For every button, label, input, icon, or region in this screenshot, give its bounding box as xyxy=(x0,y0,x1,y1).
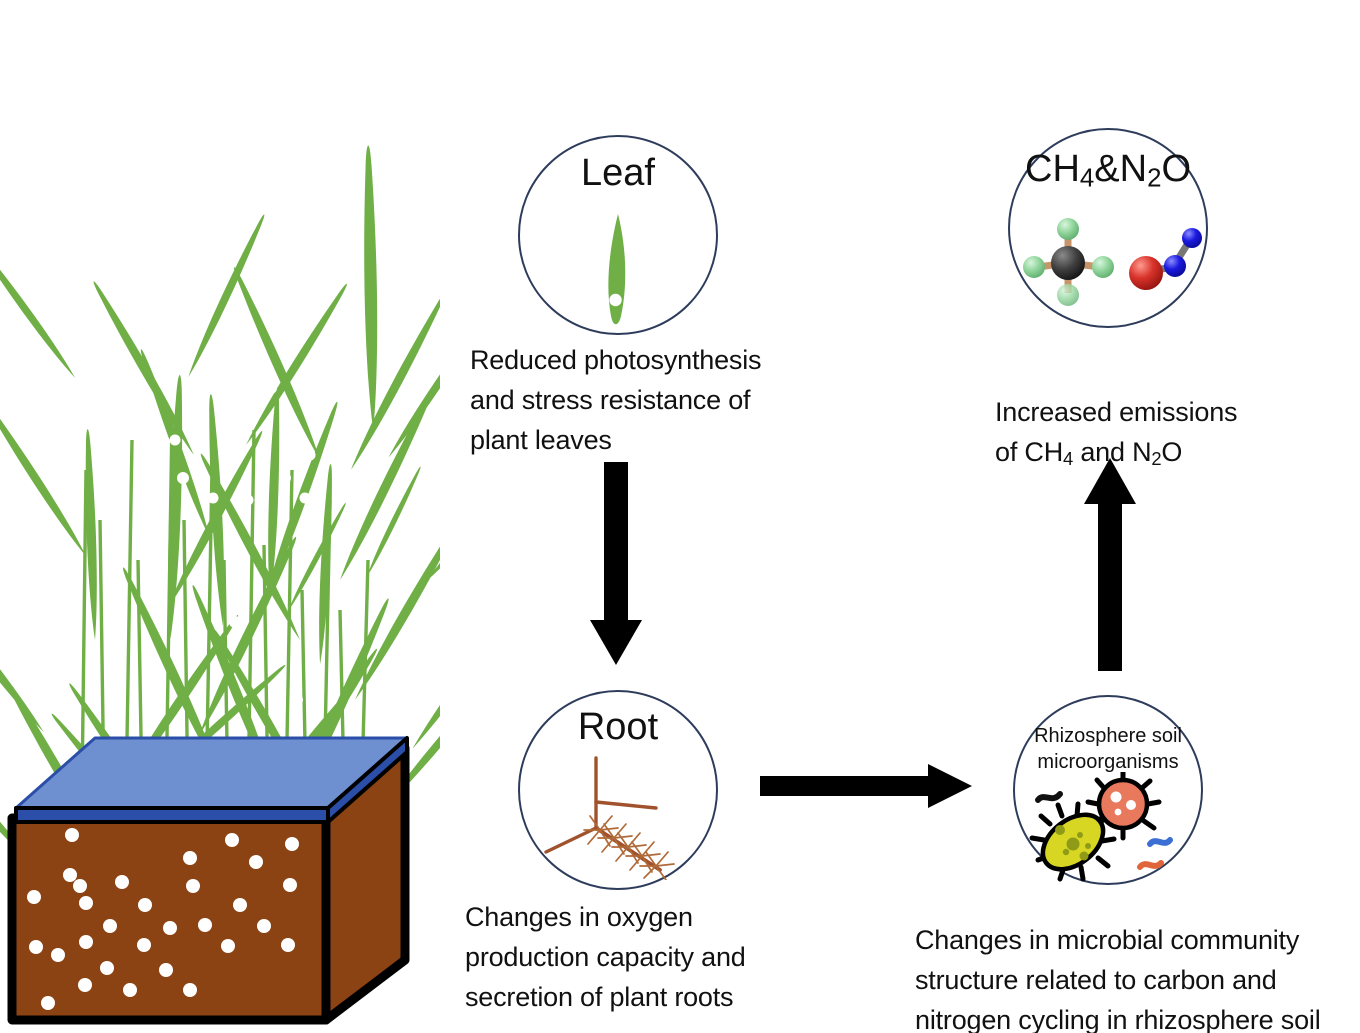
gases-node-caption: Increased emissionsof CH4 and N2O xyxy=(995,352,1325,479)
root-icon xyxy=(538,750,698,880)
arrow-root-to-microbes xyxy=(760,762,975,810)
leaf-dots xyxy=(113,84,351,706)
arrow-leaf-to-root xyxy=(586,462,646,667)
water-front-edge xyxy=(16,808,328,822)
gases-node-title: CH4&N2O xyxy=(1008,148,1208,194)
methane-molecule xyxy=(1023,218,1114,306)
gases-caption-text: Increased emissionsof CH4 and N2O xyxy=(995,397,1237,467)
soil-microorganisms-icon xyxy=(1028,772,1188,882)
arrow-microbes-to-gases xyxy=(1080,458,1140,673)
root-node-caption: Changes in oxygen production capacity an… xyxy=(465,897,845,1017)
squiggle-black xyxy=(1038,794,1060,800)
leaf-icon xyxy=(586,212,650,332)
soil-block-front-face xyxy=(12,818,326,1020)
plant-soil-illustration xyxy=(0,0,440,1033)
microbes-node-title: Rhizosphere soil microorganisms xyxy=(1013,723,1203,775)
squiggle-blue xyxy=(1150,840,1170,844)
microbes-node-caption: Changes in microbial community structure… xyxy=(915,920,1345,1033)
leaf-node-title: Leaf xyxy=(518,152,718,195)
root-node-title: Root xyxy=(518,706,718,749)
diagram-canvas: Leaf Reduced photosynthesis and stress r… xyxy=(0,0,1360,1033)
squiggle-orange xyxy=(1140,863,1161,867)
leaf-node-caption: Reduced photosynthesis and stress resist… xyxy=(470,340,830,460)
methane-nitrous-oxide-molecule-icon xyxy=(1010,205,1210,325)
gases-title-text: CH4&N2O xyxy=(1025,148,1191,190)
nitrous-oxide-molecule xyxy=(1129,228,1202,290)
